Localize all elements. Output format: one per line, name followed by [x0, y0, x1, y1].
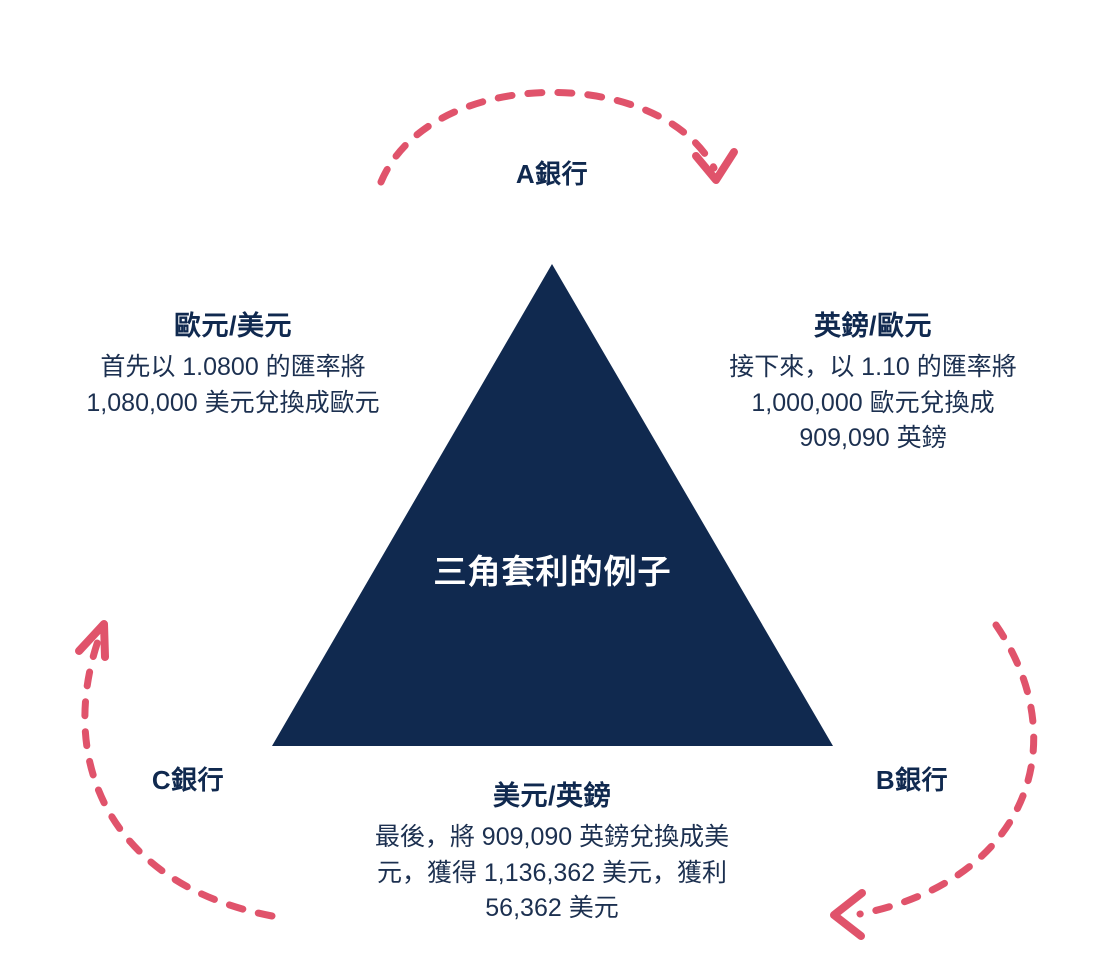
step-right-line-3: 909,090 英鎊	[663, 421, 1083, 457]
step-right-line-1: 接下來，以 1.10 的匯率將	[663, 350, 1083, 386]
step-right-pair: 英鎊/歐元	[663, 308, 1083, 344]
step-left-line-2: 1,080,000 美元兌換成歐元	[18, 386, 448, 422]
step-left-pair: 歐元/美元	[18, 308, 448, 344]
step-bottom-line-1: 最後，將 909,090 英鎊兌換成美	[292, 820, 812, 856]
bank-label-b: B銀行	[812, 760, 1012, 797]
step-bottom-pair: 美元/英鎊	[292, 778, 812, 814]
bank-label-a: A銀行	[452, 154, 652, 191]
arbitrage-diagram: 三角套利的例子 A銀行 B銀行 C銀行 歐元/美元 首先以 1.0800 的匯率…	[0, 0, 1105, 971]
step-bottom-line-2: 元，獲得 1,136,362 美元，獲利	[292, 856, 812, 892]
step-block-bottom: 美元/英鎊 最後，將 909,090 英鎊兌換成美 元，獲得 1,136,362…	[292, 778, 812, 927]
step-left-line-1: 首先以 1.0800 的匯率將	[18, 350, 448, 386]
bank-label-c: C銀行	[88, 760, 288, 797]
step-block-right: 英鎊/歐元 接下來，以 1.10 的匯率將 1,000,000 歐元兌換成 90…	[663, 308, 1083, 457]
step-block-left: 歐元/美元 首先以 1.0800 的匯率將 1,080,000 美元兌換成歐元	[18, 308, 448, 421]
diagram-center-label: 三角套利的例子	[0, 552, 1105, 592]
step-bottom-line-3: 56,362 美元	[292, 891, 812, 927]
step-right-line-2: 1,000,000 歐元兌換成	[663, 386, 1083, 422]
